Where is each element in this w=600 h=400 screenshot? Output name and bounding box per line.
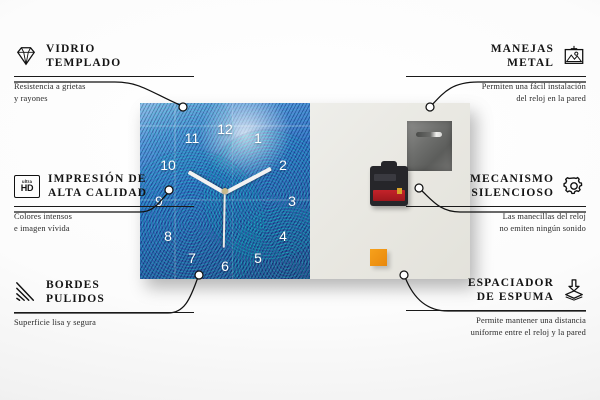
clock-numeral-5: 5 [254, 251, 262, 265]
clock-numeral-11: 11 [185, 131, 200, 145]
clock-numeral-12: 12 [217, 122, 233, 136]
clock-numeral-2: 2 [279, 158, 287, 172]
battery-compartment [373, 190, 405, 201]
clock-numeral-4: 4 [279, 229, 287, 243]
feature-header: VIDRIOTEMPLADO [14, 42, 194, 71]
feature-title: ESPACIADORDE ESPUMA [468, 276, 554, 305]
clock-numeral-6: 6 [221, 259, 229, 273]
feature-title: MANEJASMETAL [491, 42, 554, 71]
foam-spacer [370, 249, 387, 266]
infographic-canvas: 12 1 2 3 4 5 6 7 8 9 10 11 [0, 0, 600, 400]
feature-description: Resistencia a grietasy rayones [14, 81, 194, 105]
feature-divider [14, 206, 194, 207]
clock-center-cap [222, 188, 228, 194]
clock-numeral-3: 3 [288, 194, 296, 208]
mechanism-detail [374, 174, 396, 181]
feature-bordes-pulidos[interactable]: BORDESPULIDOS Superficie lisa y segura [14, 278, 194, 329]
feature-header: MECANISMOSILENCIOSO [406, 172, 586, 201]
gear-icon [562, 175, 586, 197]
ultra-hd-icon-bottom: HD [21, 184, 34, 193]
feature-description: Permite mantener una distanciauniforme e… [406, 315, 586, 339]
feature-manejas-metal[interactable]: MANEJASMETAL Permiten una fácil instalac… [406, 42, 586, 105]
feature-header: BORDESPULIDOS [14, 278, 194, 307]
arrow-down-stack-icon [562, 279, 586, 301]
feature-description: Las manecillas del relojno emiten ningún… [406, 211, 586, 235]
feature-header: ultra HD IMPRESIÓN DEALTA CALIDAD [14, 172, 194, 201]
feature-description: Permiten una fácil instalacióndel reloj … [406, 81, 586, 105]
feature-title: IMPRESIÓN DEALTA CALIDAD [48, 172, 147, 201]
framed-picture-icon [562, 45, 586, 67]
clock-mechanism [370, 166, 408, 206]
feature-description: Colores intensose imagen vívida [14, 211, 194, 235]
feature-header: ESPACIADORDE ESPUMA [406, 276, 586, 305]
diamond-icon [14, 45, 38, 67]
feature-vidrio-templado[interactable]: VIDRIOTEMPLADO Resistencia a grietasy ra… [14, 42, 194, 105]
mechanism-tab [381, 161, 397, 168]
feature-divider [14, 312, 194, 313]
hanger-slot [416, 132, 442, 137]
feature-divider [406, 206, 586, 207]
metal-hanger-plate [407, 121, 452, 171]
feature-impresion-alta-calidad[interactable]: ultra HD IMPRESIÓN DEALTA CALIDAD Colore… [14, 172, 194, 235]
feature-title: MECANISMOSILENCIOSO [470, 172, 554, 201]
feature-divider [406, 76, 586, 77]
feature-divider [406, 310, 586, 311]
feature-title: VIDRIOTEMPLADO [46, 42, 121, 71]
feature-header: MANEJASMETAL [406, 42, 586, 71]
clock-numeral-10: 10 [160, 158, 176, 172]
feature-mecanismo-silencioso[interactable]: MECANISMOSILENCIOSO Las manecillas del r… [406, 172, 586, 235]
feature-description: Superficie lisa y segura [14, 317, 194, 329]
clock-numeral-7: 7 [188, 251, 196, 265]
battery-terminal [397, 188, 402, 194]
clock-numeral-1: 1 [254, 131, 262, 145]
feature-divider [14, 76, 194, 77]
feature-espaciador-espuma[interactable]: ESPACIADORDE ESPUMA Permite mantener una… [406, 276, 586, 339]
diagonal-lines-icon [14, 281, 38, 303]
ultra-hd-icon: ultra HD [14, 175, 40, 198]
feature-title: BORDESPULIDOS [46, 278, 105, 307]
